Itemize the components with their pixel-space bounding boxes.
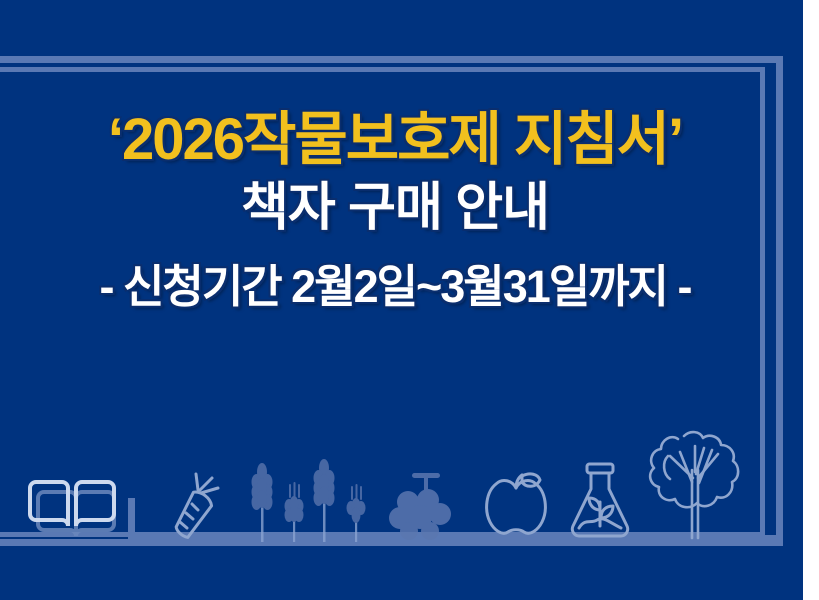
headline-block: ‘2026작물보호제 지침서’ 책자 구매 안내 - 신청기간 2월2일~3월3… — [0, 110, 790, 311]
poster-subtitle-period: - 신청기간 2월2일~3월31일까지 - — [0, 263, 790, 310]
open-book-icon — [22, 472, 122, 544]
wheat-stalk-icon — [238, 462, 370, 542]
poster-root: ‘2026작물보호제 지침서’ 책자 구매 안내 - 신청기간 2월2일~3월3… — [0, 0, 819, 600]
poster-title-line-1: ‘2026작물보호제 지침서’ — [0, 110, 790, 171]
grapes-icon — [390, 464, 466, 540]
apple-icon — [478, 468, 554, 540]
flask-sprout-icon — [565, 460, 637, 542]
tree-icon — [640, 426, 744, 542]
poster-title-line-2: 책자 구매 안내 — [0, 181, 790, 236]
carrot-icon — [168, 470, 232, 542]
